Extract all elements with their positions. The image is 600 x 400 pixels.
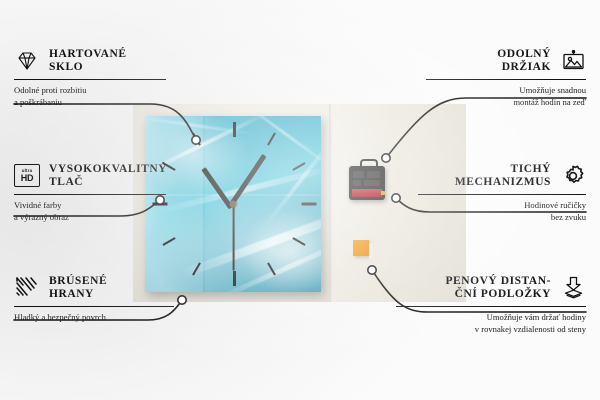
feature-divider — [14, 194, 166, 195]
feature-title-group: ODOLNÝ DRŽIAK — [497, 48, 551, 74]
feature-title-line1: BRÚSENÉ — [49, 275, 107, 288]
feature-desc-line1: Hodinové ručičky — [418, 199, 586, 211]
feature-desc-line1: Hladký a bezpečný povrch — [14, 311, 174, 323]
product-photo — [133, 104, 466, 302]
feature-title-line1: HARTOVANÉ — [49, 48, 127, 61]
feature-brusene-hrany: BRÚSENÉ HRANY Hladký a bezpečný povrch — [14, 275, 174, 323]
feature-title-group: BRÚSENÉ HRANY — [49, 275, 107, 301]
feature-hartovane-sklo: HARTOVANÉ SKLO Odolné proti rozbitiu a p… — [14, 48, 166, 108]
feature-desc-line2: bez zvuku — [418, 211, 586, 223]
foam-spacer-pad — [353, 240, 369, 256]
feature-odolny-drziak: ODOLNÝ DRŽIAK Umožňuje snadnou montáž ho… — [426, 48, 586, 108]
battery — [352, 189, 382, 197]
mechanism-detail — [353, 180, 361, 186]
feature-vysokokvalitny-tlac: ultra HD VYSOKOKVALITNÝ TLAČ Vividné far… — [14, 163, 166, 223]
feature-description: Vividné farby a výrazný obraz — [14, 199, 166, 223]
feature-desc-line2: a poškrábaniu — [14, 96, 166, 108]
feature-heading: TICHÝ MECHANIZMUS — [418, 163, 586, 189]
feature-heading: PENOVÝ DISTAN- ČNÍ PODLOŽKY — [396, 275, 586, 301]
feature-description: Odolné proti rozbitiu a poškrábaniu — [14, 84, 166, 108]
feature-divider — [418, 194, 586, 195]
feature-description: Hladký a bezpečný povrch — [14, 311, 174, 323]
feature-title-line1: TICHÝ — [455, 163, 551, 176]
ultra-hd-badge-hd: HD — [21, 174, 34, 183]
feature-title-line1: ODOLNÝ — [497, 48, 551, 61]
feature-title-group: VYSOKOKVALITNÝ TLAČ — [49, 163, 167, 189]
feature-divider — [14, 79, 166, 80]
infographic-canvas: HARTOVANÉ SKLO Odolné proti rozbitiu a p… — [0, 0, 600, 400]
feature-description: Umožňuje vám držať hodiny v rovnakej vzd… — [396, 311, 586, 335]
wall-clock — [145, 116, 321, 292]
mechanism-detail — [364, 180, 380, 186]
hatched-edge-icon — [14, 277, 40, 299]
clock-mechanism — [349, 166, 385, 200]
hour-mark — [302, 203, 317, 206]
mechanism-hanger — [360, 159, 378, 170]
second-hand — [233, 205, 235, 271]
feature-title-line2: ČNÍ PODLOŽKY — [445, 288, 551, 301]
mechanism-detail — [367, 171, 380, 178]
feature-description: Hodinové ručičky bez zvuku — [418, 199, 586, 223]
feature-desc-line1: Vividné farby — [14, 199, 166, 211]
ultra-hd-badge: ultra HD — [14, 164, 40, 187]
feature-title-line2: MECHANIZMUS — [455, 176, 551, 189]
feature-title-line2: HRANY — [49, 288, 107, 301]
feature-desc-line1: Odolné proti rozbitiu — [14, 84, 166, 96]
hour-mark — [233, 122, 236, 137]
feature-tichy-mechanizmus: TICHÝ MECHANIZMUS Hodinové ručičky bez z… — [418, 163, 586, 223]
feature-title-line2: DRŽIAK — [497, 61, 551, 74]
foam-pad-arrow-icon — [560, 277, 586, 299]
mechanism-detail — [353, 171, 364, 178]
diamond-icon — [14, 50, 40, 72]
feature-title-line1: VYSOKOKVALITNÝ — [49, 163, 167, 176]
feature-heading: HARTOVANÉ SKLO — [14, 48, 166, 74]
feature-desc-line2: v rovnakej vzdialenosti od steny — [396, 323, 586, 335]
feature-title-group: PENOVÝ DISTAN- ČNÍ PODLOŽKY — [445, 275, 551, 301]
feature-desc-line1: Umožňuje snadnou — [426, 84, 586, 96]
feature-desc-line2: a výrazný obraz — [14, 211, 166, 223]
feature-desc-line2: montáž hodin na zeď — [426, 96, 586, 108]
feature-desc-line1: Umožňuje vám držať hodiny — [396, 311, 586, 323]
hour-mark — [233, 271, 236, 286]
feature-heading: BRÚSENÉ HRANY — [14, 275, 174, 301]
feature-penove-podlozky: PENOVÝ DISTAN- ČNÍ PODLOŽKY Umožňuje vám… — [396, 275, 586, 335]
feature-divider — [396, 306, 586, 307]
feature-divider — [426, 79, 586, 80]
feature-title-line2: SKLO — [49, 61, 127, 74]
picture-frame-icon — [560, 50, 586, 72]
feature-heading: ODOLNÝ DRŽIAK — [426, 48, 586, 74]
gear-icon — [560, 165, 586, 187]
ultra-hd-icon: ultra HD — [14, 165, 40, 187]
feature-title-line2: TLAČ — [49, 176, 167, 189]
feature-title-line1: PENOVÝ DISTAN- — [445, 275, 551, 288]
feature-title-group: HARTOVANÉ SKLO — [49, 48, 127, 74]
feature-title-group: TICHÝ MECHANIZMUS — [455, 163, 551, 189]
hand-cap — [230, 201, 237, 208]
feature-description: Umožňuje snadnou montáž hodin na zeď — [426, 84, 586, 108]
feature-heading: ultra HD VYSOKOKVALITNÝ TLAČ — [14, 163, 166, 189]
feature-divider — [14, 306, 174, 307]
